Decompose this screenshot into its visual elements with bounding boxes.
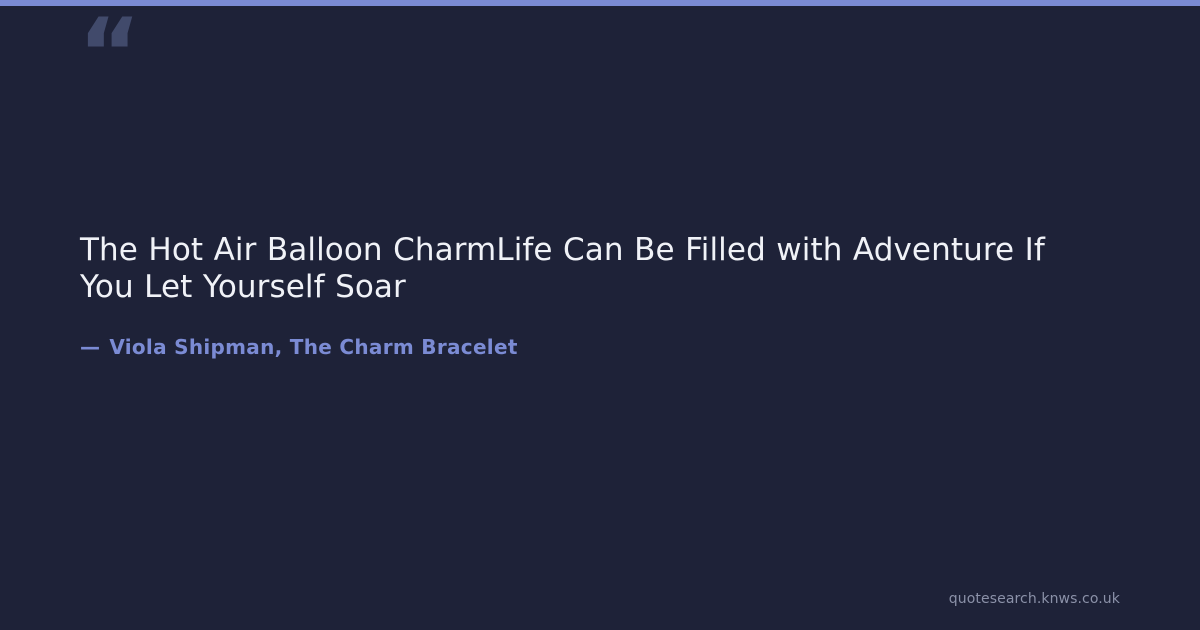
- quote-text: The Hot Air Balloon CharmLife Can Be Fil…: [80, 232, 1090, 306]
- source-url: quotesearch.knws.co.uk: [949, 590, 1120, 608]
- open-quote-icon: “: [78, 6, 139, 102]
- attribution-text: Viola Shipman, The Charm Bracelet: [109, 335, 517, 359]
- top-accent-bar: [0, 0, 1200, 6]
- quote-attribution: —Viola Shipman, The Charm Bracelet: [80, 306, 1090, 359]
- attribution-dash: —: [80, 335, 109, 359]
- quote-card: “ The Hot Air Balloon CharmLife Can Be F…: [0, 0, 1200, 630]
- quote-content: The Hot Air Balloon CharmLife Can Be Fil…: [80, 232, 1090, 359]
